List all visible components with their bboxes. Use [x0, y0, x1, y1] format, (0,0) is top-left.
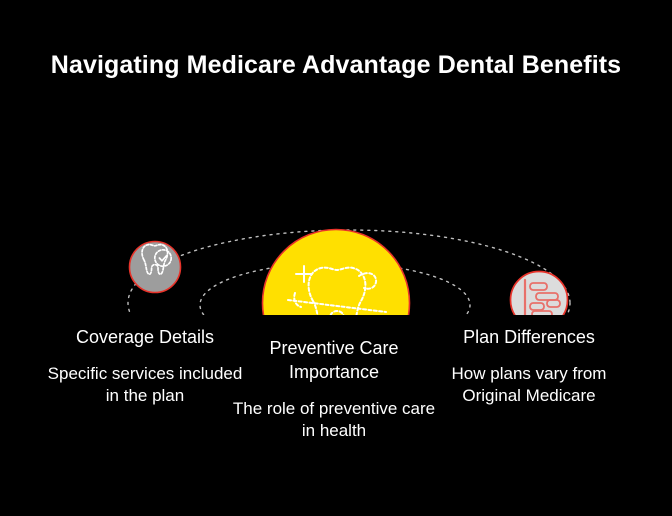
feature-column-plan: Plan Differences How plans vary from Ori…	[424, 325, 634, 407]
feature-column-preventive: Preventive Care Importance The role of p…	[228, 336, 440, 442]
coverage-node-circle	[130, 242, 181, 293]
feature-heading-preventive: Preventive Care Importance	[228, 336, 440, 384]
feature-description-plan: How plans vary from Original Medicare	[424, 363, 634, 407]
feature-description-preventive: The role of preventive care in health	[228, 398, 440, 442]
sun-node[interactable]	[263, 230, 410, 316]
sun-circle	[263, 230, 410, 316]
orbit-diagram	[0, 100, 672, 315]
slide-canvas: Navigating Medicare Advantage Dental Ben…	[0, 0, 672, 516]
feature-description-coverage: Specific services included in the plan	[40, 363, 250, 407]
feature-column-coverage: Coverage Details Specific services inclu…	[40, 325, 250, 407]
coverage-node[interactable]	[130, 242, 181, 293]
orbit-diagram-svg	[0, 100, 672, 315]
plan-node[interactable]	[511, 272, 568, 316]
page-title: Navigating Medicare Advantage Dental Ben…	[0, 50, 672, 80]
feature-heading-coverage: Coverage Details	[40, 325, 250, 349]
feature-heading-plan: Plan Differences	[424, 325, 634, 349]
